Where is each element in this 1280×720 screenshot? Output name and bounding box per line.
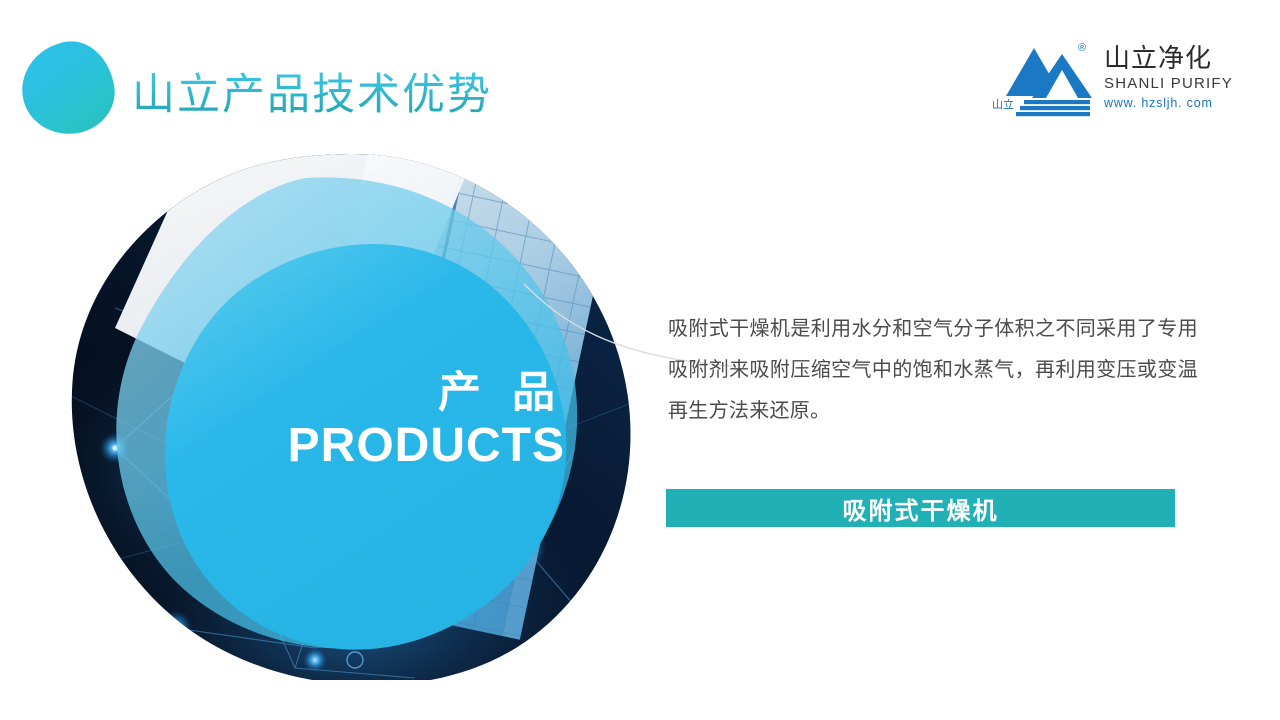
product-name-banner: 吸附式干燥机: [666, 489, 1175, 527]
logo-website-url: www. hzsljh. com: [1104, 95, 1234, 111]
logo-name-en: SHANLI PURIFY: [1104, 74, 1234, 94]
registered-mark-icon: ®: [1078, 42, 1086, 54]
product-name-banner-text: 吸附式干燥机: [843, 491, 999, 526]
slide-root: 山立产品技术优势 ® 山立 山立净化 SHANLI PURIFY www. hz…: [0, 0, 1280, 720]
logo-mark-label: 山立: [992, 96, 1014, 112]
brand-logo: ® 山立 山立净化 SHANLI PURIFY www. hzsljh. com: [992, 38, 1222, 130]
page-title: 山立产品技术优势: [132, 60, 492, 122]
product-blob-illustration-icon: [55, 148, 645, 680]
description-paragraph: 吸附式干燥机是利用水分和空气分子体积之不同采用了专用吸附剂来吸附压缩空气中的饱和…: [668, 308, 1198, 431]
header-decoration-blob-icon: [16, 36, 120, 140]
product-graphic: 产 品 PRODUCTS: [55, 148, 645, 680]
logo-name-cn: 山立净化: [1104, 46, 1234, 73]
logo-text-block: 山立净化 SHANLI PURIFY www. hzsljh. com: [1104, 46, 1234, 111]
